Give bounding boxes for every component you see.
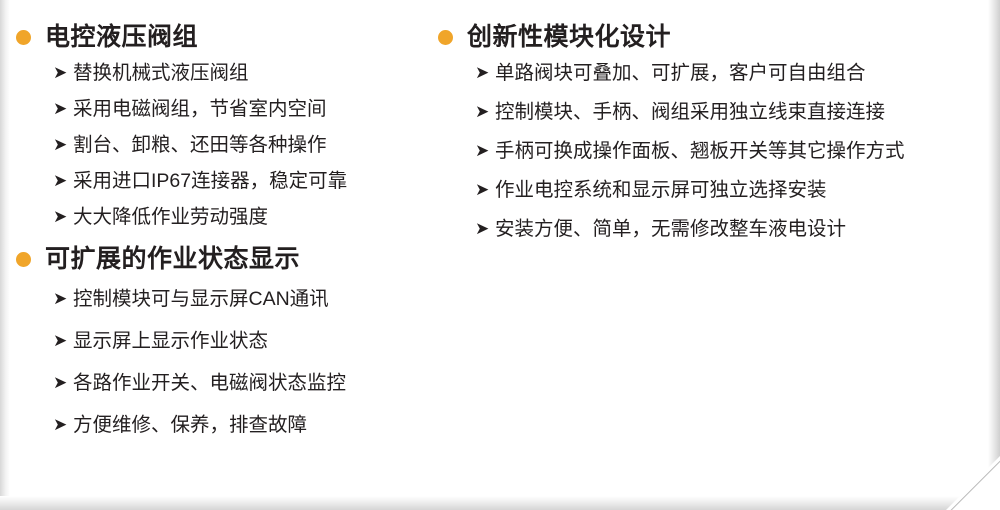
section-heading-row: 创新性模块化设计 [430,22,990,52]
list-item: ➤ 割台、卸粮、还田等各种操作 [8,132,438,158]
list-item-label: 控制模块、手柄、阀组采用独立线束直接连接 [495,99,885,125]
arrow-right-icon: ➤ [475,138,495,164]
arrow-right-icon: ➤ [53,168,73,194]
arrow-right-icon: ➤ [53,132,73,158]
section-item-list: ➤ 替换机械式液压阀组 ➤ 采用电磁阀组，节省室内空间 ➤ 割台、卸粮、还田等各… [8,60,438,230]
list-item-label: 采用电磁阀组，节省室内空间 [73,96,327,122]
list-item: ➤ 手柄可换成操作面板、翘板开关等其它操作方式 [430,138,990,164]
right-column: 创新性模块化设计 ➤ 单路阀块可叠加、可扩展，客户可自由组合 ➤ 控制模块、手柄… [430,22,990,255]
list-item-label: 采用进口IP67连接器，稳定可靠 [73,168,347,194]
page-fold-triangle [944,454,1000,510]
bullet-dot-icon [438,30,453,45]
list-item-label: 作业电控系统和显示屏可独立选择安装 [495,177,827,203]
list-item-label: 手柄可换成操作面板、翘板开关等其它操作方式 [495,138,905,164]
list-item: ➤ 采用电磁阀组，节省室内空间 [8,96,438,122]
list-item: ➤ 显示屏上显示作业状态 [8,328,438,354]
list-item-label: 控制模块可与显示屏CAN通讯 [73,286,329,312]
arrow-right-icon: ➤ [475,216,495,242]
arrow-right-icon: ➤ [475,99,495,125]
section-heading-label: 可扩展的作业状态显示 [45,244,300,274]
arrow-right-icon: ➤ [53,370,73,396]
list-item: ➤ 安装方便、简单，无需修改整车液电设计 [430,216,990,242]
list-item: ➤ 替换机械式液压阀组 [8,60,438,86]
bullet-dot-icon [16,252,31,267]
bullet-dot-icon [16,30,31,45]
section-heading-label: 创新性模块化设计 [467,22,671,52]
page-fold-corner [940,450,1000,510]
list-item-label: 替换机械式液压阀组 [73,60,249,86]
list-item: ➤ 采用进口IP67连接器，稳定可靠 [8,168,438,194]
arrow-right-icon: ➤ [475,177,495,203]
section-heading-row: 电控液压阀组 [8,22,438,52]
list-item-label: 大大降低作业劳动强度 [73,204,268,230]
section-item-list: ➤ 控制模块可与显示屏CAN通讯 ➤ 显示屏上显示作业状态 ➤ 各路作业开关、电… [8,286,438,438]
section-item-list: ➤ 单路阀块可叠加、可扩展，客户可自由组合 ➤ 控制模块、手柄、阀组采用独立线束… [430,60,990,242]
section-expandable-operation-status-display: 可扩展的作业状态显示 ➤ 控制模块可与显示屏CAN通讯 ➤ 显示屏上显示作业状态… [8,244,438,438]
section-innovative-modular-design: 创新性模块化设计 ➤ 单路阀块可叠加、可扩展，客户可自由组合 ➤ 控制模块、手柄… [430,22,990,242]
list-item-label: 割台、卸粮、还田等各种操作 [73,132,327,158]
section-heading-row: 可扩展的作业状态显示 [8,244,438,274]
arrow-right-icon: ➤ [53,286,73,312]
arrow-right-icon: ➤ [475,60,495,86]
list-item-label: 方便维修、保养，排查故障 [73,412,307,438]
list-item-label: 各路作业开关、电磁阀状态监控 [73,370,346,396]
list-item: ➤ 控制模块可与显示屏CAN通讯 [8,286,438,312]
left-column: 电控液压阀组 ➤ 替换机械式液压阀组 ➤ 采用电磁阀组，节省室内空间 ➤ 割台、… [8,22,438,454]
list-item-label: 安装方便、简单，无需修改整车液电设计 [495,216,846,242]
list-item: ➤ 各路作业开关、电磁阀状态监控 [8,370,438,396]
section-heading-label: 电控液压阀组 [45,22,198,52]
list-item-label: 单路阀块可叠加、可扩展，客户可自由组合 [495,60,866,86]
arrow-right-icon: ➤ [53,204,73,230]
arrow-right-icon: ➤ [53,328,73,354]
section-electro-hydraulic-valve-group: 电控液压阀组 ➤ 替换机械式液压阀组 ➤ 采用电磁阀组，节省室内空间 ➤ 割台、… [8,22,438,230]
slide-content-columns: 电控液压阀组 ➤ 替换机械式液压阀组 ➤ 采用电磁阀组，节省室内空间 ➤ 割台、… [0,0,1000,510]
list-item: ➤ 单路阀块可叠加、可扩展，客户可自由组合 [430,60,990,86]
arrow-right-icon: ➤ [53,412,73,438]
arrow-right-icon: ➤ [53,60,73,86]
list-item-label: 显示屏上显示作业状态 [73,328,268,354]
list-item: ➤ 作业电控系统和显示屏可独立选择安装 [430,177,990,203]
list-item: ➤ 控制模块、手柄、阀组采用独立线束直接连接 [430,99,990,125]
list-item: ➤ 方便维修、保养，排查故障 [8,412,438,438]
slide-canvas: 电控液压阀组 ➤ 替换机械式液压阀组 ➤ 采用电磁阀组，节省室内空间 ➤ 割台、… [0,0,1000,510]
arrow-right-icon: ➤ [53,96,73,122]
list-item: ➤ 大大降低作业劳动强度 [8,204,438,230]
